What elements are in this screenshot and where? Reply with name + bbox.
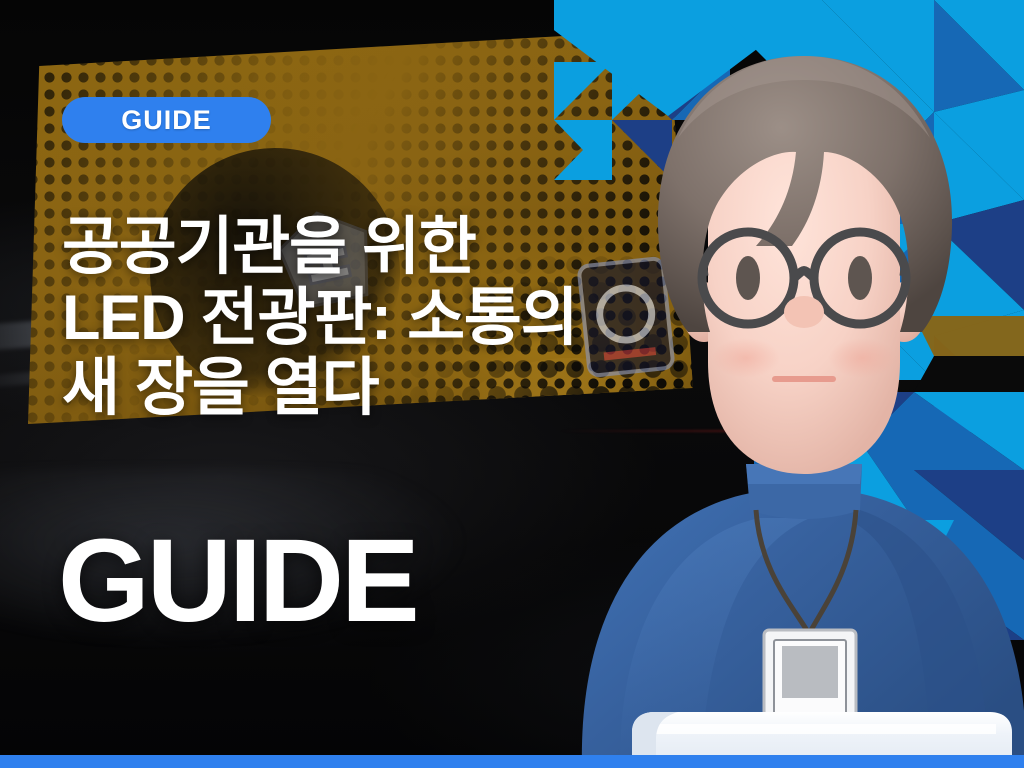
character-eye-left	[736, 256, 760, 300]
guide-wordmark: GUIDE	[58, 522, 417, 640]
guide-badge[interactable]: GUIDE	[62, 97, 271, 143]
character-eye-right	[848, 256, 872, 300]
person-avatar-3d-icon	[560, 40, 1024, 768]
bottom-accent-bar	[0, 755, 1024, 768]
poster-canvas: GUIDE 공공기관을 위한 LED 전광판: 소통의 새 장을 열다 GUID…	[0, 0, 1024, 768]
character-mouth	[772, 376, 836, 382]
character-nose	[784, 296, 824, 328]
guide-badge-label: GUIDE	[121, 107, 212, 134]
